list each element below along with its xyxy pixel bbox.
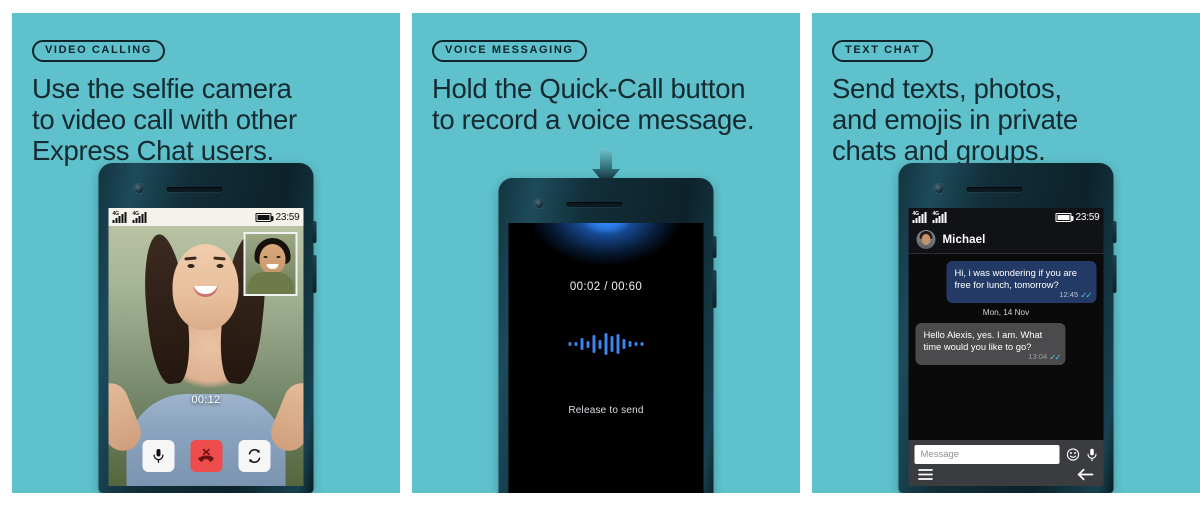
- feature-panels-board: VIDEO CALLING Use the selfie camera to v…: [0, 0, 1200, 506]
- call-duration-timer: 00:12: [109, 394, 304, 406]
- microphone-icon: [151, 448, 165, 464]
- menu-button[interactable]: [918, 468, 934, 481]
- message-time: 13:04: [1028, 351, 1047, 363]
- chat-header[interactable]: Michael: [909, 226, 1104, 254]
- badge-voice-messaging: VOICE MESSAGING: [432, 40, 587, 62]
- decor-pip-shirt: [248, 272, 294, 294]
- emoji-button[interactable]: [1067, 448, 1080, 461]
- message-time: 12:45: [1059, 289, 1078, 301]
- hamburger-menu-icon: [918, 468, 934, 481]
- status-bar: 4G 4G 23:59: [109, 208, 304, 226]
- message-text: Hi, i was wondering if you are free for …: [955, 267, 1077, 290]
- headline-video-calling: Use the selfie camera to video call with…: [32, 73, 297, 166]
- phone-bezel-top: [909, 174, 1104, 208]
- message-list: Hi, i was wondering if you are free for …: [909, 254, 1104, 440]
- panel-text-chat: TEXT CHAT Send texts, photos, and emojis…: [812, 13, 1200, 493]
- battery-icon: [1055, 213, 1071, 222]
- chat-app: 4G 4G 23:59: [909, 208, 1104, 486]
- voice-recording-stage: 00:02 / 00:60 Release to send: [509, 223, 704, 493]
- battery-icon: [255, 213, 271, 222]
- earpiece-speaker: [167, 187, 223, 192]
- panel-video-calling: VIDEO CALLING Use the selfie camera to v…: [12, 13, 400, 493]
- mute-mic-button[interactable]: [142, 440, 174, 472]
- decor-eye-left: [188, 264, 195, 268]
- signal-icon-sim1: 4G: [113, 212, 127, 223]
- status-clock: 23:59: [275, 212, 299, 223]
- phone-side-button-upper[interactable]: [1113, 221, 1117, 243]
- message-meta: 13:04 ✓✓: [1028, 351, 1059, 363]
- video-call-stage: 00:12: [109, 226, 304, 486]
- end-call-icon: [197, 448, 215, 464]
- decor-pip-eye-right: [277, 256, 281, 258]
- quick-call-button-glow[interactable]: [579, 223, 633, 233]
- decor-eye-right: [217, 264, 224, 268]
- headline-text-chat: Send texts, photos, and emojis in privat…: [832, 73, 1078, 166]
- phone-side-button-upper[interactable]: [713, 236, 717, 258]
- chat-input-bar: Message: [909, 440, 1104, 486]
- headline-voice-messaging: Hold the Quick-Call button to record a v…: [432, 73, 754, 135]
- panel-voice-messaging: VOICE MESSAGING Hold the Quick-Call butt…: [412, 13, 800, 493]
- read-receipt-icon: ✓✓: [1049, 351, 1059, 363]
- signal-indicators: 4G 4G: [913, 212, 947, 223]
- earpiece-speaker: [567, 202, 623, 207]
- signal-icon-sim2: 4G: [933, 212, 947, 223]
- audio-waveform: [509, 329, 704, 359]
- decor-avatar-face: [922, 234, 931, 245]
- front-camera-icon: [935, 184, 944, 193]
- phone-screen-voice-recording: 00:02 / 00:60 Release to send: [509, 223, 704, 493]
- back-arrow-icon: [1077, 468, 1095, 481]
- message-text: Hello Alexis, yes. I am. What time would…: [924, 329, 1043, 352]
- message-bubble-outgoing[interactable]: Hi, i was wondering if you are free for …: [947, 261, 1097, 303]
- decor-pip-face: [260, 244, 286, 274]
- phone-bezel-top: [109, 174, 304, 208]
- status-bar-right: 23:59: [255, 212, 299, 223]
- signal-indicators: 4G 4G: [113, 212, 147, 223]
- call-controls: [109, 440, 304, 472]
- status-bar: 4G 4G 23:59: [909, 208, 1104, 226]
- message-input-placeholder: Message: [921, 449, 960, 460]
- phone-bezel-top: [509, 189, 704, 223]
- message-input[interactable]: Message: [915, 445, 1060, 464]
- phone-side-button-lower[interactable]: [313, 255, 317, 293]
- read-receipt-icon: ✓✓: [1080, 289, 1090, 301]
- earpiece-speaker: [967, 187, 1023, 192]
- back-button[interactable]: [1077, 468, 1095, 481]
- front-camera-icon: [535, 199, 544, 208]
- date-separator: Mon, 14 Nov: [916, 308, 1097, 317]
- avatar: [917, 230, 936, 249]
- phone-device-video-call: 4G 4G 23:59: [99, 163, 314, 493]
- phone-side-button-lower[interactable]: [713, 270, 717, 308]
- chat-contact-name: Michael: [943, 234, 986, 246]
- release-to-send-hint: Release to send: [509, 405, 704, 416]
- chat-nav-row: [915, 464, 1098, 482]
- signal-icon-sim2: 4G: [133, 212, 147, 223]
- recording-timer: 00:02 / 00:60: [509, 281, 704, 293]
- status-clock: 23:59: [1075, 212, 1099, 223]
- signal-icon-sim1: 4G: [913, 212, 927, 223]
- badge-text-chat: TEXT CHAT: [832, 40, 933, 62]
- picture-in-picture-video[interactable]: [244, 232, 298, 296]
- message-bubble-incoming[interactable]: Hello Alexis, yes. I am. What time would…: [916, 323, 1066, 365]
- phone-device-voice-recording: 00:02 / 00:60 Release to send: [499, 178, 714, 493]
- camera-flip-icon: [246, 448, 262, 464]
- phone-screen-text-chat: 4G 4G 23:59: [909, 208, 1104, 486]
- flip-camera-button[interactable]: [238, 440, 270, 472]
- emoji-smiley-icon: [1067, 448, 1080, 461]
- end-call-button[interactable]: [190, 440, 222, 472]
- microphone-icon: [1087, 448, 1098, 462]
- voice-record-button[interactable]: [1087, 448, 1098, 462]
- status-bar-right: 23:59: [1055, 212, 1099, 223]
- phone-screen-video-call: 4G 4G 23:59: [109, 208, 304, 486]
- front-camera-icon: [135, 184, 144, 193]
- phone-device-text-chat: 4G 4G 23:59: [899, 163, 1114, 493]
- phone-side-button-upper[interactable]: [313, 221, 317, 243]
- badge-video-calling: VIDEO CALLING: [32, 40, 165, 62]
- chat-input-row: Message: [915, 445, 1098, 464]
- phone-side-button-lower[interactable]: [1113, 255, 1117, 293]
- message-meta: 12:45 ✓✓: [1059, 289, 1090, 301]
- decor-pip-eye-left: [264, 256, 268, 258]
